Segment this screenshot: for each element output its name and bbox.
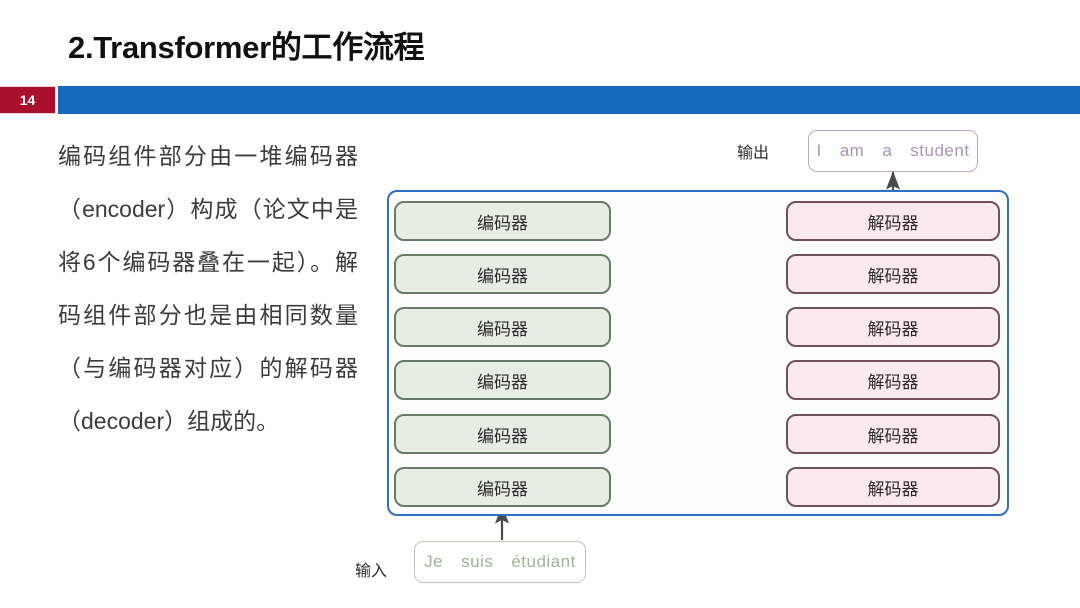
decoder-label: 解码器 [868,422,919,447]
decoder-label: 解码器 [868,262,919,287]
decoder-label: 解码器 [868,315,919,340]
input-box[interactable]: Je suis étudiant [414,541,586,583]
input-token-3: étudiant [502,552,585,572]
encoder-label: 编码器 [477,422,528,447]
decoder-box-6[interactable]: 解码器 [786,467,1000,507]
output-token-1: I [807,141,830,161]
decoder-label: 解码器 [868,475,919,500]
encoder-box-2[interactable]: 编码器 [394,254,611,294]
encoder-box-5[interactable]: 编码器 [394,414,611,454]
decoder-box-1[interactable]: 解码器 [786,201,1000,241]
decoder-label: 解码器 [868,368,919,393]
decoder-box-5[interactable]: 解码器 [786,414,1000,454]
input-label: 输入 [355,557,387,581]
decoder-label: 解码器 [868,209,919,234]
output-token-4: student [901,141,978,161]
encoder-box-1[interactable]: 编码器 [394,201,611,241]
output-box[interactable]: I am a student [808,130,978,172]
output-token-3: a [873,141,901,161]
encoder-label: 编码器 [477,262,528,287]
input-token-2: suis [452,552,502,572]
encoder-label: 编码器 [477,475,528,500]
encoder-label: 编码器 [477,315,528,340]
decoder-box-3[interactable]: 解码器 [786,307,1000,347]
encoder-label: 编码器 [477,209,528,234]
decoder-box-4[interactable]: 解码器 [786,360,1000,400]
encoder-box-4[interactable]: 编码器 [394,360,611,400]
decoder-box-2[interactable]: 解码器 [786,254,1000,294]
output-label: 输出 [737,139,769,163]
encoder-box-6[interactable]: 编码器 [394,467,611,507]
encoder-box-3[interactable]: 编码器 [394,307,611,347]
encoder-label: 编码器 [477,368,528,393]
output-token-2: am [831,141,874,161]
input-token-1: Je [415,552,452,572]
transformer-diagram: 编码器 编码器 编码器 编码器 编码器 编码器 解码器 解码器 解码器 解码器 … [0,0,1080,608]
